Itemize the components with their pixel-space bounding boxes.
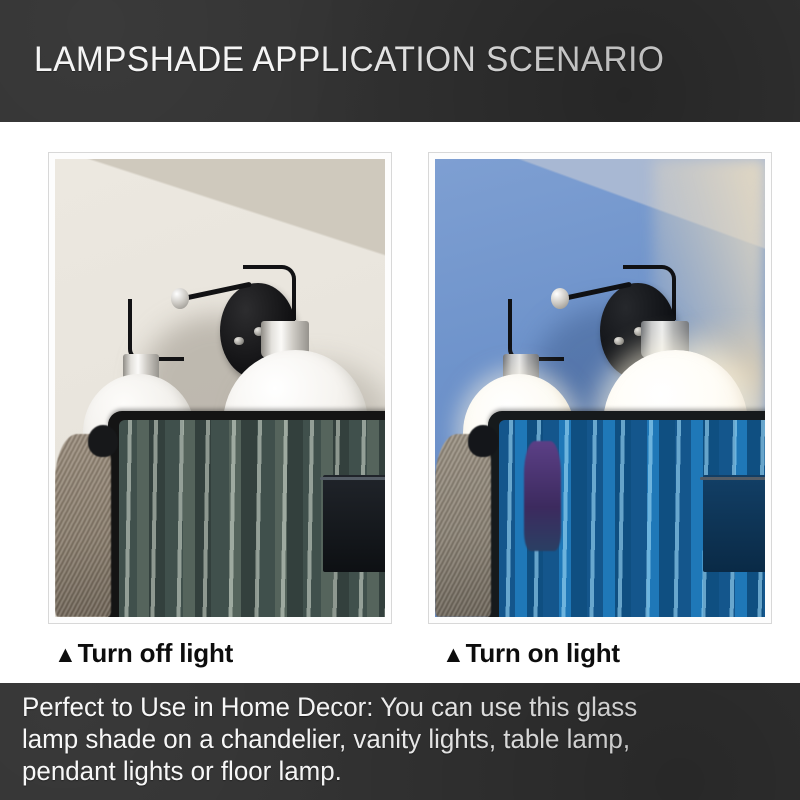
photo-frame-turn-on-light [428, 152, 772, 624]
footer-band: Perfect to Use in Home Decor: You can us… [0, 683, 800, 800]
footer-line: lamp shade on a chandelier, vanity light… [22, 723, 761, 755]
header-band: LAMPSHADE APPLICATION SCENARIO [0, 0, 800, 122]
caption-text: Turn on light [466, 638, 620, 668]
page-title: LAMPSHADE APPLICATION SCENARIO [34, 40, 664, 80]
caption-turn-on-light: ▲Turn on light [442, 638, 620, 669]
mirror-frame [108, 411, 385, 617]
sconce-arm-joint [171, 288, 189, 309]
footer-line: Perfect to Use in Home Decor: You can us… [22, 691, 761, 723]
photo-frame-turn-off-light [48, 152, 392, 624]
hanging-coat [55, 434, 111, 617]
backplate-screw [234, 337, 244, 346]
lampshade-application-scenario-page: LAMPSHADE APPLICATION SCENARIO [0, 0, 800, 800]
mirror-reflection-curtain [499, 420, 765, 617]
mirror-reflection-curtain [119, 420, 385, 617]
caption-text: Turn off light [78, 638, 234, 668]
footer-line: pendant lights or floor lamp. [22, 755, 761, 787]
hanging-coat [435, 434, 491, 617]
backplate-screw [614, 337, 624, 346]
wall-hook [468, 425, 498, 457]
triangle-marker-icon: ▲ [442, 641, 465, 667]
sconce-arm-joint [551, 288, 569, 309]
mirror-towel [323, 475, 385, 572]
photo-panels [0, 122, 800, 683]
mirror-purple-item [524, 441, 561, 551]
wall-hook [88, 425, 118, 457]
caption-turn-off-light: ▲Turn off light [54, 638, 233, 669]
mirror-frame [488, 411, 765, 617]
photo-light-on [435, 159, 765, 617]
mirror-towel [703, 475, 765, 572]
footer-description: Perfect to Use in Home Decor: You can us… [22, 691, 761, 787]
triangle-marker-icon: ▲ [54, 641, 77, 667]
photo-light-off [55, 159, 385, 617]
